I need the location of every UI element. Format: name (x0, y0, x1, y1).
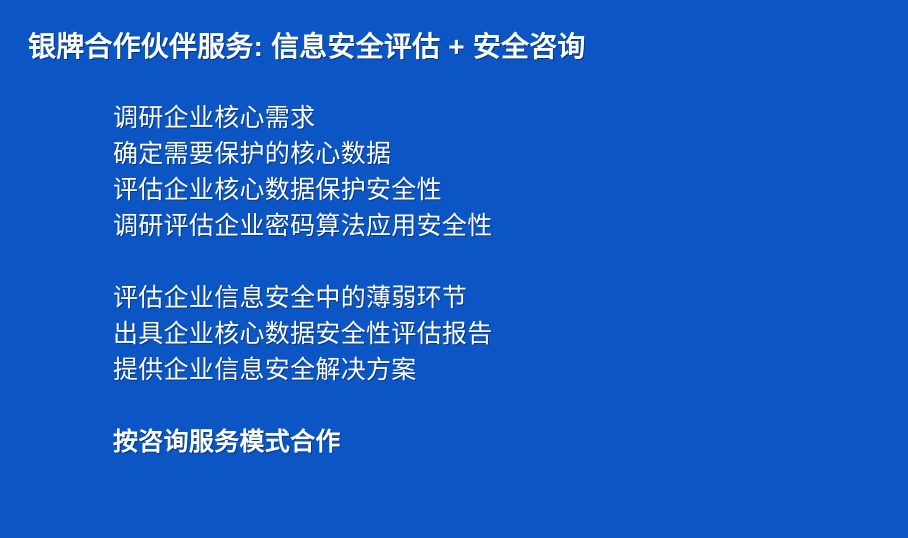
content-line: 按咨询服务模式合作 (113, 424, 873, 460)
content-line: 调研评估企业密码算法应用安全性 (113, 208, 873, 244)
content-line: 评估企业核心数据保护安全性 (113, 172, 873, 208)
content-line: 提供企业信息安全解决方案 (113, 352, 873, 388)
content-block-assessment-scope: 调研企业核心需求 确定需要保护的核心数据 评估企业核心数据保护安全性 调研评估企… (113, 100, 873, 244)
content-block-engagement-model: 按咨询服务模式合作 (113, 424, 873, 460)
content-line: 出具企业核心数据安全性评估报告 (113, 316, 873, 352)
content-block-deliverables: 评估企业信息安全中的薄弱环节 出具企业核心数据安全性评估报告 提供企业信息安全解… (113, 280, 873, 388)
content-line: 评估企业信息安全中的薄弱环节 (113, 280, 873, 316)
presentation-slide: 银牌合作伙伴服务: 信息安全评估 + 安全咨询 调研企业核心需求 确定需要保护的… (0, 0, 908, 538)
slide-title: 银牌合作伙伴服务: 信息安全评估 + 安全咨询 (28, 28, 880, 66)
content-line: 调研企业核心需求 (113, 100, 873, 136)
content-line: 确定需要保护的核心数据 (113, 136, 873, 172)
slide-body: 调研企业核心需求 确定需要保护的核心数据 评估企业核心数据保护安全性 调研评估企… (113, 100, 873, 460)
